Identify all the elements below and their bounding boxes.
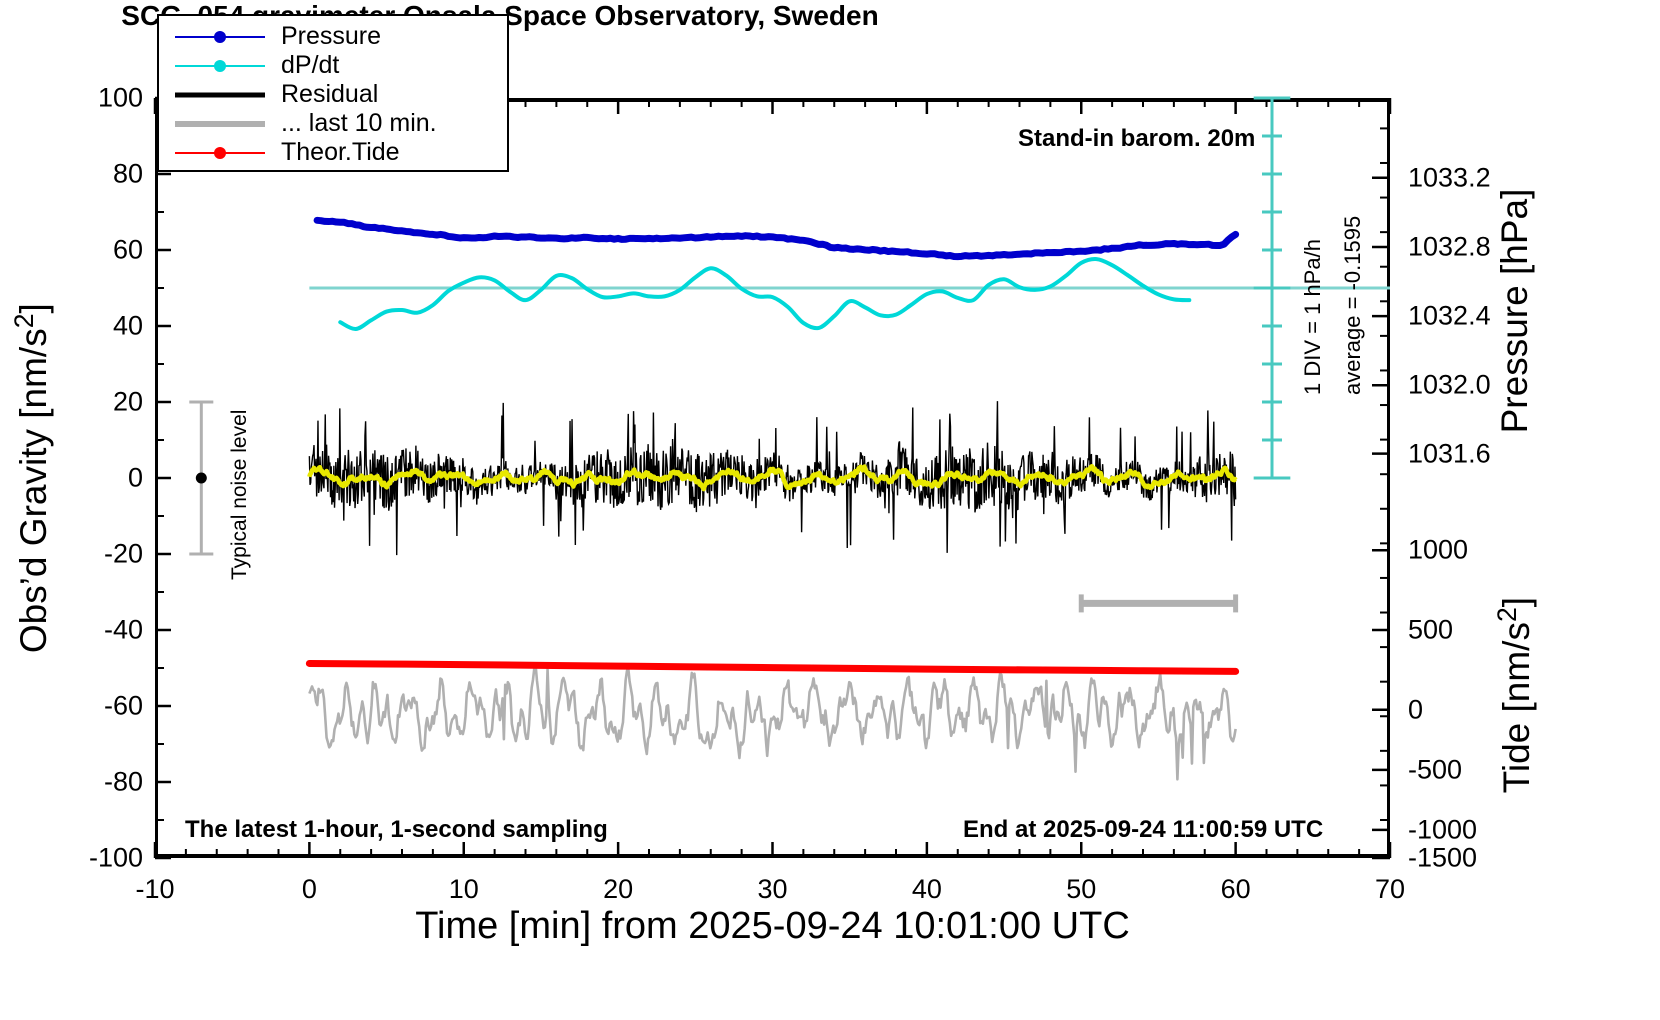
legend-item-4[interactable]: Theor.Tide <box>159 138 507 167</box>
x-tick-label: 0 <box>302 874 317 905</box>
y-tick-label-pressure: 1032.0 <box>1408 370 1491 401</box>
y-tick-label-left: 100 <box>35 83 143 114</box>
legend-item-3[interactable]: ... last 10 min. <box>159 109 507 138</box>
y-tick-label-pressure: 1031.6 <box>1408 438 1491 469</box>
x-axis-title: Time [min] from 2025-09-24 10:01:00 UTC <box>155 905 1390 948</box>
legend-swatch-icon <box>175 83 265 107</box>
gravimeter-plot: 100806040200-20-40-60-80-100 -1001020304… <box>0 0 1660 1020</box>
legend-item-label: ... last 10 min. <box>265 109 437 138</box>
legend-marker-dot-icon <box>214 31 226 43</box>
y-tick-label-tide: 1000 <box>1408 535 1468 566</box>
typical-noise-level-label: Typical noise level <box>228 410 252 580</box>
x-tick-label: 30 <box>757 874 787 905</box>
y-tick-label-pressure: 1033.2 <box>1408 162 1491 193</box>
legend-swatch-icon <box>175 54 265 78</box>
legend-swatch-icon <box>175 112 265 136</box>
x-tick-label: 10 <box>449 874 479 905</box>
y-axis-pressure-title: Pressure [hPa] <box>1494 101 1536 521</box>
legend-item-0[interactable]: Pressure <box>159 22 507 51</box>
y-tick-label-tide: -500 <box>1408 754 1462 785</box>
x-tick-label: 20 <box>603 874 633 905</box>
average-label: average = -0.1595 <box>1340 216 1366 395</box>
y-axis-tide-title: Tide [nm/s2] <box>1492 510 1538 880</box>
y-tick-label-pressure: 1032.8 <box>1408 231 1491 262</box>
legend-line-icon <box>175 121 265 127</box>
x-tick-label: -10 <box>135 874 174 905</box>
x-tick-label: 70 <box>1375 874 1405 905</box>
div-scale-label: 1 DIV = 1 hPa/h <box>1300 239 1326 395</box>
legend-item-label: dP/dt <box>265 51 339 80</box>
x-tick-label: 60 <box>1221 874 1251 905</box>
legend-marker-dot-icon <box>214 147 226 159</box>
legend-line-icon <box>175 92 265 97</box>
x-tick-label: 50 <box>1066 874 1096 905</box>
standin-barometer-label: Stand-in barom. 20m <box>1018 125 1255 153</box>
legend-item-label: Theor.Tide <box>265 138 400 167</box>
y-tick-label-left: -100 <box>35 843 143 874</box>
y-axis-left-title: Obs’d Gravity [nm/s2] <box>9 128 55 828</box>
legend-swatch-icon <box>175 25 265 49</box>
legend: PressuredP/dtResidual... last 10 min.The… <box>157 14 509 172</box>
sampling-info-label: The latest 1-hour, 1-second sampling <box>185 816 608 844</box>
legend-item-1[interactable]: dP/dt <box>159 51 507 80</box>
y-tick-label-tide: 0 <box>1408 694 1423 725</box>
legend-item-label: Residual <box>265 80 378 109</box>
end-time-label: End at 2025-09-24 11:00:59 UTC <box>963 816 1323 844</box>
y-tick-label-tide: -1500 <box>1408 843 1477 874</box>
legend-item-2[interactable]: Residual <box>159 80 507 109</box>
y-tick-label-tide: -1000 <box>1408 814 1477 845</box>
plot-frame <box>155 98 1390 858</box>
legend-swatch-icon <box>175 141 265 165</box>
x-tick-label: 40 <box>912 874 942 905</box>
legend-marker-dot-icon <box>214 60 226 72</box>
legend-item-label: Pressure <box>265 22 381 51</box>
y-tick-label-tide: 500 <box>1408 615 1453 646</box>
y-tick-label-pressure: 1032.4 <box>1408 301 1491 332</box>
